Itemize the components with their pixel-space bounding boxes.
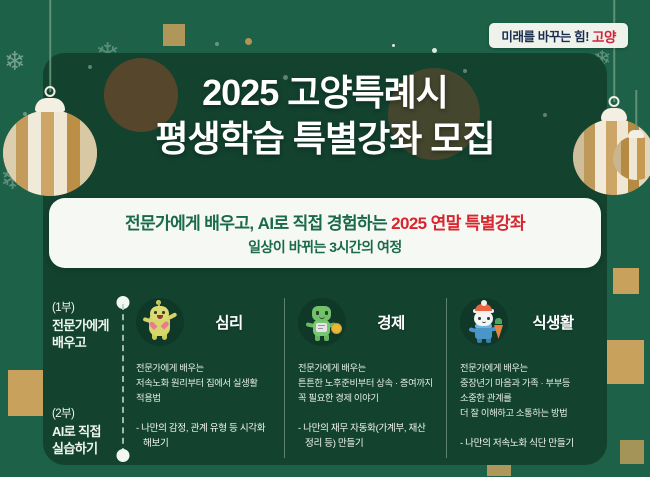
badge-slogan: 미래를 바꾸는 힘! [501,26,589,45]
banner-line-1: 전문가에게 배우고, AI로 직접 경험하는 2025 연말 특별강좌 [125,209,525,234]
topic-card-list: 심리 전문가에게 배우는 저속노화 원리부터 집에서 실생활 적용법 - 나만의… [136,296,606,464]
part-2-number: (2부) [52,406,101,423]
card-title: 식생활 [516,311,596,333]
part-1-text: 전문가에게 배우고 [52,317,109,352]
badge-city-name: 고양 [592,26,616,46]
page-title: 2025 고양특례시 평생학습 특별강좌 모집 [0,70,650,162]
part-label-2: (2부) AI로 직접 실습하기 [52,406,101,458]
part-label-1: (1부) 전문가에게 배우고 [52,300,109,352]
card-description: 전문가에게 배우는 튼튼한 노후준비부터 상속 · 증여까지 꼭 필요한 경제 … [298,361,434,406]
banner-line-1-highlight: 2025 연말 특별강좌 [391,214,525,233]
subtitle-banner: 전문가에게 배우고, AI로 직접 경험하는 2025 연말 특별강좌 일상이 … [49,198,601,268]
part-1-number: (1부) [52,300,109,317]
sparkle-icon [163,24,185,46]
card-activity-bullet: - 나만의 재무 자동화(가계부, 재산 정리 등) 만들기 [298,422,434,452]
banner-line-1-prefix: 전문가에게 배우고, AI로 직접 경험하는 [125,214,391,233]
part-2-text: AI로 직접 실습하기 [52,423,101,458]
topic-card: 식생활 전문가에게 배우는 중장년기 마음과 가족 · 부부등 소중한 관계를 … [444,296,606,464]
card-description: 전문가에게 배우는 중장년기 마음과 가족 · 부부등 소중한 관계를 더 잘 … [460,361,596,421]
sparkle-icon [613,268,639,294]
snow-dot [215,42,219,46]
city-brand-badge: 미래를 바꾸는 힘! 고양 [489,23,628,48]
connector-dashed-line [122,304,124,454]
snow-dot [392,44,395,47]
psychology-character-icon [136,298,184,346]
title-line-1: 2025 고양특례시 [0,70,650,116]
banner-line-2: 일상이 바뀌는 3시간의 여정 [248,237,402,257]
card-header: 심리 [136,296,272,348]
card-activity-bullet: - 나만의 감정, 관계 유형 등 시각화 해보기 [136,422,272,452]
snow-dot [245,38,252,45]
card-header: 경제 [298,296,434,348]
connector-node-bottom [117,449,130,462]
economy-robot-character-icon [298,298,346,346]
card-title: 심리 [192,311,272,333]
sparkle-icon [620,440,644,464]
card-activity-bullet: - 나만의 저속노화 식단 만들기 [460,437,596,452]
card-header: 식생활 [460,296,596,348]
topic-card: 심리 전문가에게 배우는 저속노화 원리부터 집에서 실생활 적용법 - 나만의… [136,296,282,464]
poster-canvas: ❄ ❄ ❄ ❄ [0,0,650,477]
nutrition-character-icon [460,298,508,346]
timeline-connector [116,296,130,462]
title-line-2: 평생학습 특별강좌 모집 [0,116,650,162]
card-description: 전문가에게 배우는 저속노화 원리부터 집에서 실생활 적용법 [136,361,272,406]
card-title: 경제 [354,311,434,333]
topic-card: 경제 전문가에게 배우는 튼튼한 노후준비부터 상속 · 증여까지 꼭 필요한 … [282,296,444,464]
